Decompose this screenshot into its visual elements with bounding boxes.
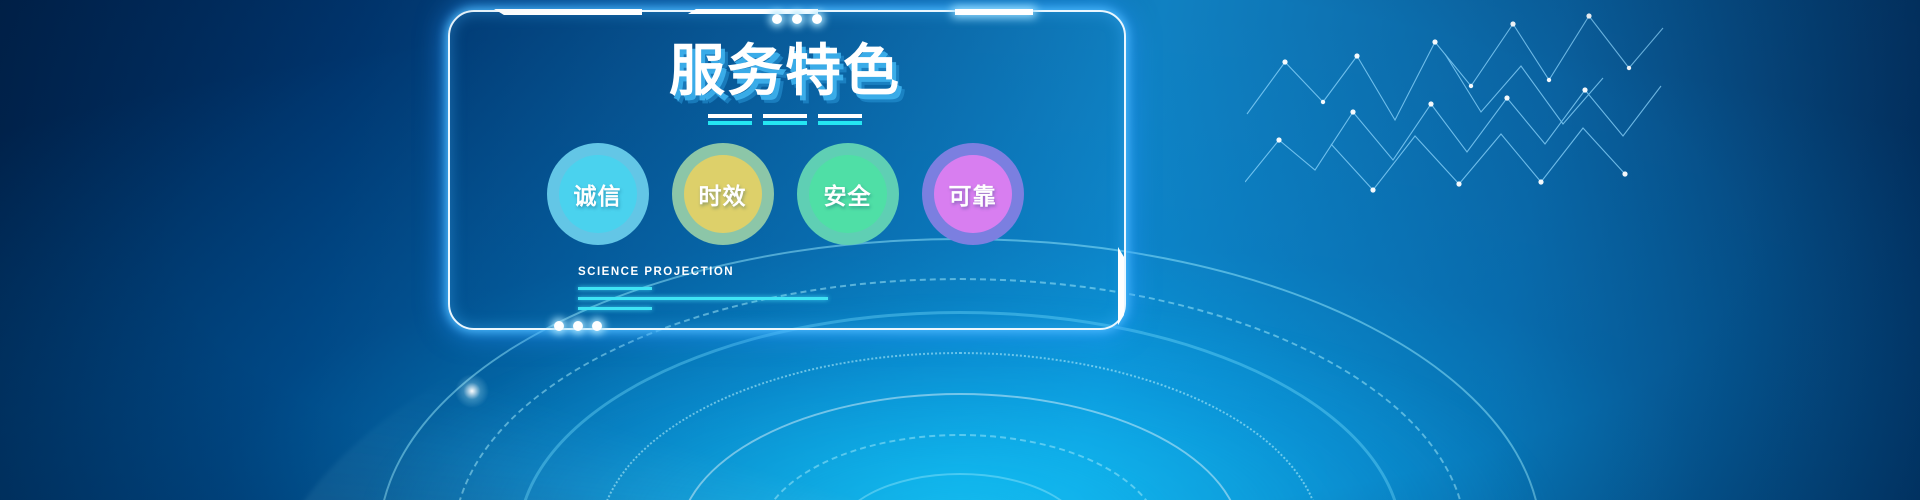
feature-label: 可靠 xyxy=(949,177,997,211)
feature-label: 诚信 xyxy=(574,177,622,211)
banner-stage: 服务特色 诚信 时效 安全 可靠 SCIENCE PROJECTION xyxy=(0,0,1920,500)
feature-label: 时效 xyxy=(699,177,747,211)
feature-label: 安全 xyxy=(824,177,872,211)
vignette-overlay xyxy=(0,0,1920,500)
